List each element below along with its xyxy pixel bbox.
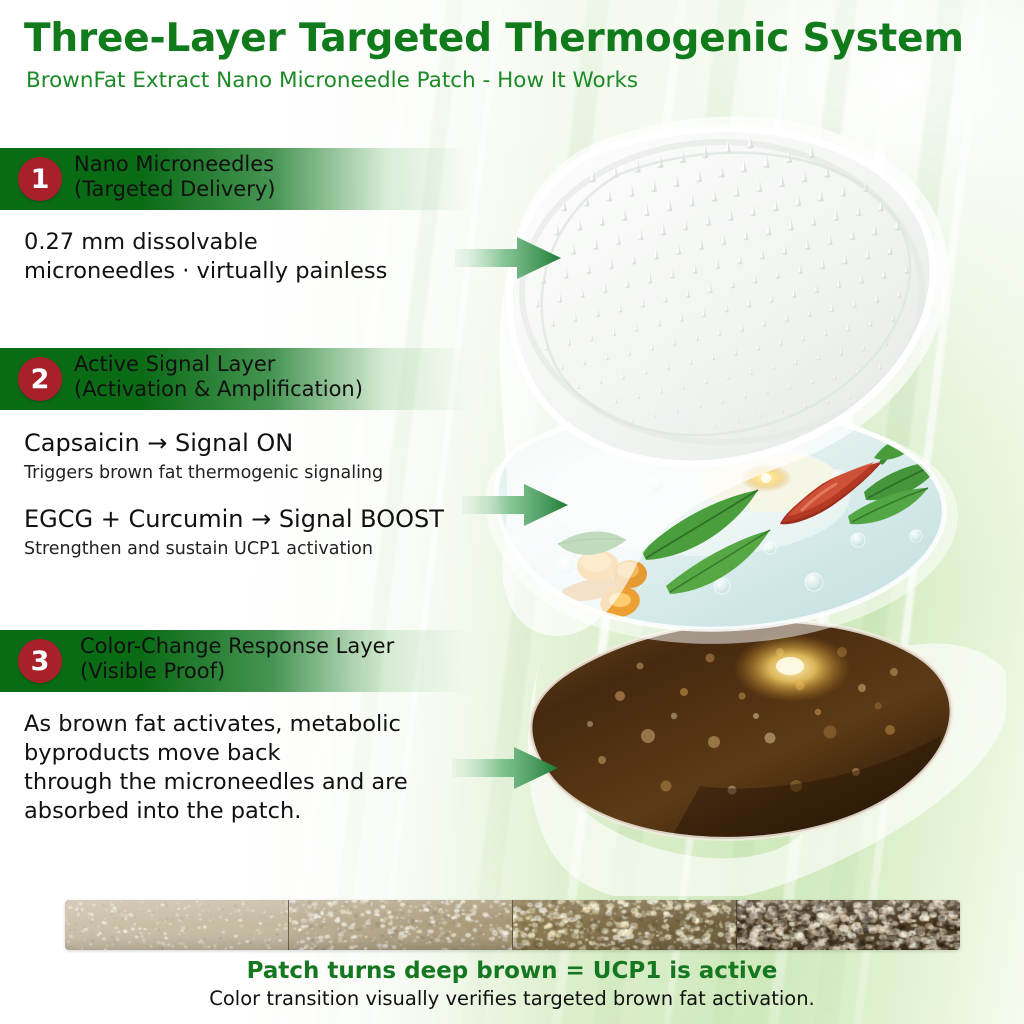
section-2-sub-1: Triggers brown fat thermogenic signaling bbox=[24, 462, 383, 485]
color-transition-strip bbox=[65, 900, 960, 950]
step-badge-1: 1 bbox=[18, 157, 62, 201]
section-2-lead-2: EGCG + Curcumin → Signal BOOST bbox=[24, 504, 444, 534]
arrow-to-layer-1 bbox=[455, 235, 563, 281]
page-title: Three-Layer Targeted Thermogenic System bbox=[24, 16, 964, 61]
section-heading-1-line1: Nano Microneedles bbox=[74, 152, 275, 177]
color-swatch-stage-2 bbox=[288, 900, 512, 950]
section-heading-2-line1: Active Signal Layer bbox=[74, 352, 363, 377]
section-body-3-line3: through the microneedles and are bbox=[24, 768, 408, 797]
section-body-3-line1: As brown fat activates, metabolic bbox=[24, 710, 408, 739]
section-2-sub-2: Strengthen and sustain UCP1 activation bbox=[24, 538, 373, 561]
section-heading-2: Active Signal Layer (Activation & Amplif… bbox=[74, 352, 363, 402]
section-body-1-line1: 0.27 mm dissolvable bbox=[24, 228, 387, 257]
section-heading-2-line2: (Activation & Amplification) bbox=[74, 377, 363, 402]
color-swatch-stage-3 bbox=[512, 900, 736, 950]
page-subtitle: BrownFat Extract Nano Microneedle Patch … bbox=[26, 68, 638, 93]
section-body-1-line2: microneedles · virtually painless bbox=[24, 257, 387, 286]
section-body-3: As brown fat activates, metabolic byprod… bbox=[24, 710, 408, 826]
section-body-3-line4: absorbed into the patch. bbox=[24, 797, 408, 826]
color-swatch-stage-1 bbox=[65, 900, 288, 950]
section-2-lead-1: Capsaicin → Signal ON bbox=[24, 428, 293, 458]
color-swatch-stage-4 bbox=[736, 900, 960, 950]
section-heading-1-line2: (Targeted Delivery) bbox=[74, 177, 275, 202]
section-heading-1: Nano Microneedles (Targeted Delivery) bbox=[74, 152, 275, 202]
step-badge-2: 2 bbox=[18, 357, 62, 401]
step-badge-3: 3 bbox=[18, 639, 62, 683]
footer-subline: Color transition visually verifies targe… bbox=[0, 987, 1024, 1010]
section-heading-3: Color-Change Response Layer (Visible Pro… bbox=[80, 634, 394, 684]
section-body-1: 0.27 mm dissolvable microneedles · virtu… bbox=[24, 228, 387, 286]
arrow-to-layer-3 bbox=[452, 745, 560, 791]
section-heading-3-line1: Color-Change Response Layer bbox=[80, 634, 394, 659]
section-heading-3-line2: (Visible Proof) bbox=[80, 659, 394, 684]
arrow-to-layer-2 bbox=[462, 482, 570, 528]
footer-headline: Patch turns deep brown = UCP1 is active bbox=[0, 958, 1024, 984]
infographic-page: Three-Layer Targeted Thermogenic System … bbox=[0, 0, 1024, 1024]
section-body-3-line2: byproducts move back bbox=[24, 739, 408, 768]
